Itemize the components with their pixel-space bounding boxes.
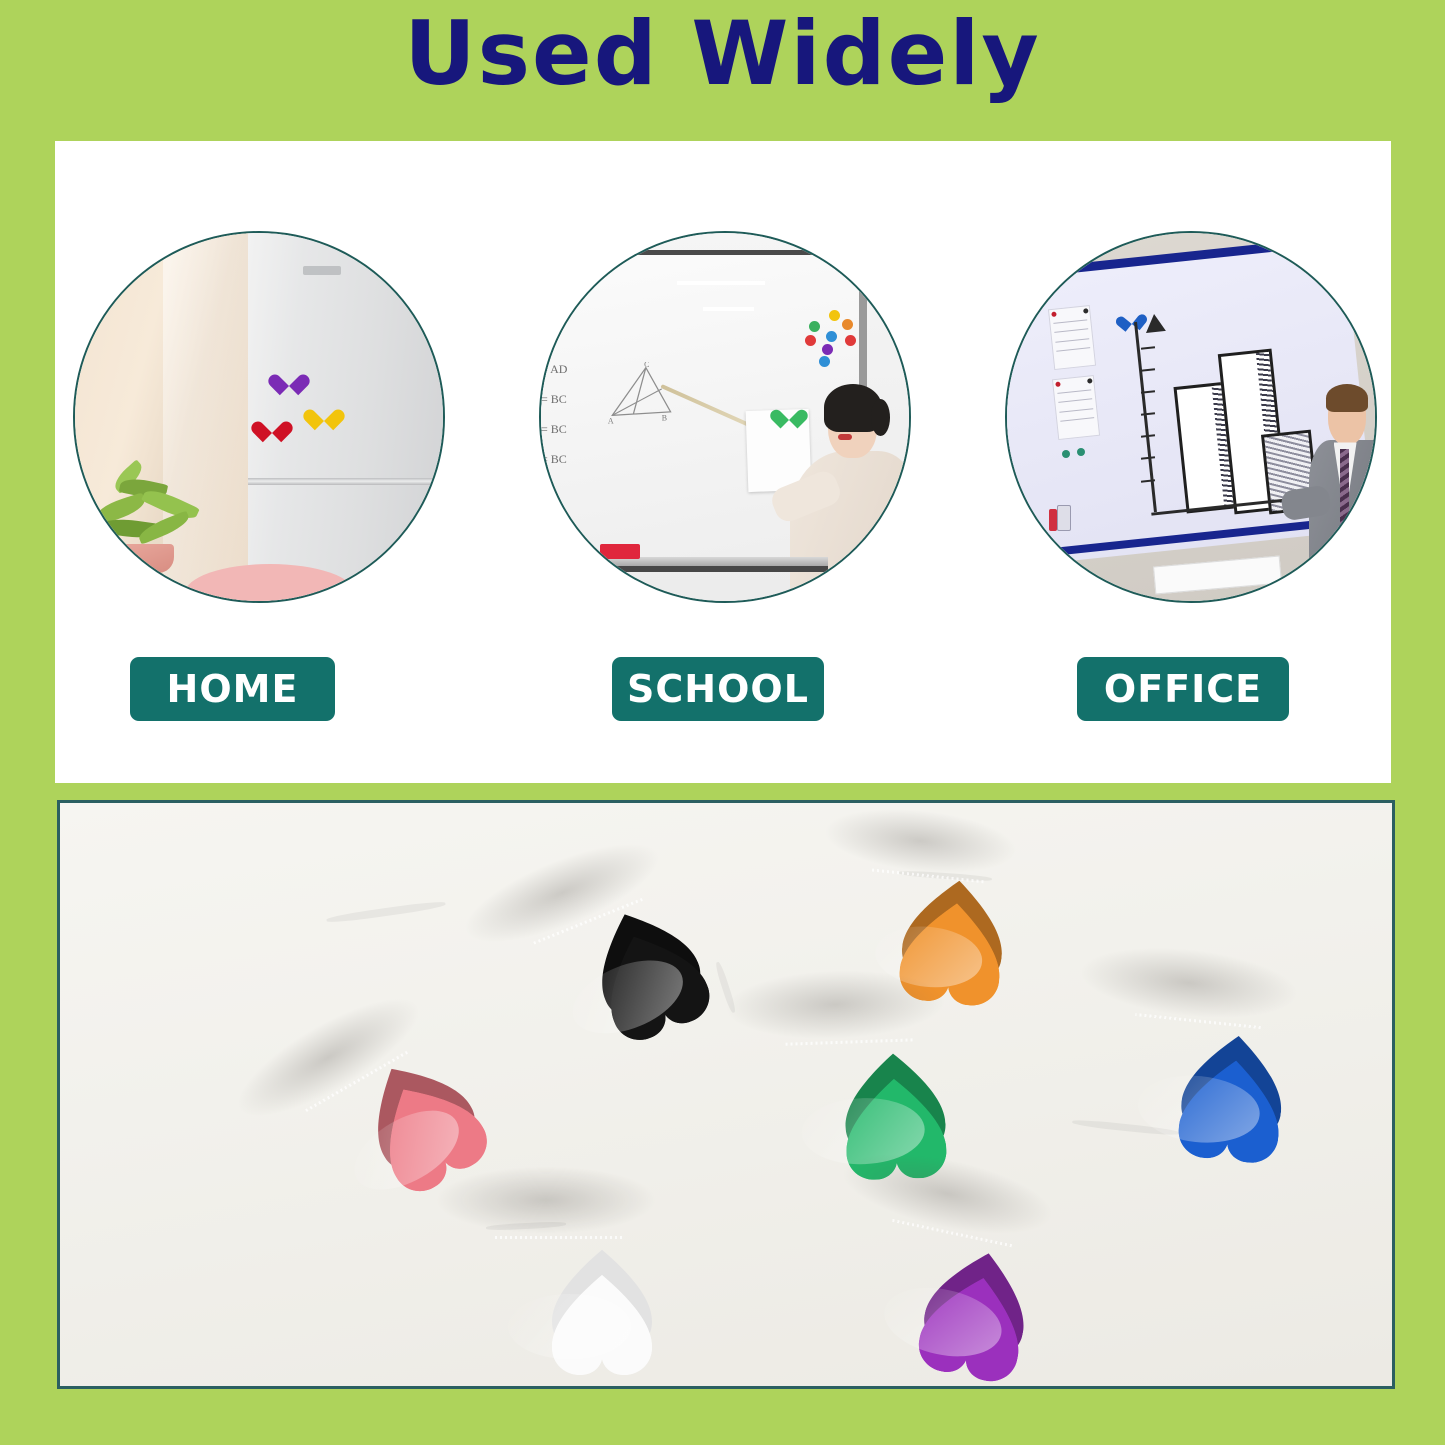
magnet-dot xyxy=(822,344,833,355)
magnet-dot xyxy=(829,310,840,321)
scene-home xyxy=(75,233,443,601)
badge-school: SCHOOL xyxy=(612,657,824,721)
document-text-line xyxy=(1060,417,1094,422)
magnet-dot xyxy=(826,331,837,342)
pinned-document xyxy=(1052,374,1101,439)
scene-school: = AD = BC = BC = BC A B C xyxy=(541,233,909,601)
plant-pot xyxy=(120,544,174,573)
page-title: Used Widely xyxy=(0,8,1445,100)
badge-office: OFFICE xyxy=(1077,657,1289,721)
green-marker xyxy=(591,555,602,563)
document-text-line xyxy=(1058,398,1092,403)
drop-shadow xyxy=(817,800,1023,883)
document-text-line xyxy=(1056,338,1090,343)
document-text-line xyxy=(1059,408,1093,413)
document-text-line xyxy=(1057,347,1091,352)
equation-line: = BC xyxy=(541,444,607,474)
magnet-edge-highlight xyxy=(495,1236,622,1239)
whiteboard-mark xyxy=(677,281,765,285)
purple-heart-magnet xyxy=(810,1154,1052,1387)
use-case-image-school: = AD = BC = BC = BC A B C xyxy=(539,231,911,603)
businessman-figure xyxy=(1309,384,1377,601)
black-heart-magnet xyxy=(462,838,717,1085)
product-photo xyxy=(57,800,1395,1389)
whiteboard-mark xyxy=(703,307,755,311)
equation-line: = BC xyxy=(541,384,607,414)
blue-heart-magnet-icon xyxy=(1120,306,1142,326)
refrigerator-logo xyxy=(303,266,341,275)
use-cases-panel: = AD = BC = BC = BC A B C xyxy=(55,141,1391,783)
colorful-magnet-cluster xyxy=(802,310,865,362)
red-heart-magnet-icon xyxy=(259,411,285,435)
teacher-hair-bun xyxy=(871,399,890,436)
teacher-lips xyxy=(838,434,851,441)
svg-text:A: A xyxy=(608,416,614,424)
whiteboard-top-frame xyxy=(556,250,865,255)
white-heart-magnet xyxy=(440,1181,652,1375)
document-text-line xyxy=(1055,328,1089,333)
pinned-document xyxy=(1048,305,1097,370)
note-card xyxy=(1057,505,1071,531)
pin-dot xyxy=(1055,381,1060,386)
use-case-circles: = AD = BC = BC = BC A B C xyxy=(55,141,1391,581)
magnet-dot xyxy=(845,335,856,346)
magnet-dot xyxy=(805,335,816,346)
whiteboard-tray-shadow xyxy=(556,566,828,572)
scene-office xyxy=(1007,233,1375,601)
potted-plant xyxy=(90,465,208,575)
drop-shadow xyxy=(831,1137,1063,1252)
drop-shadow xyxy=(1073,936,1306,1028)
use-case-image-home xyxy=(73,231,445,603)
pin-dot xyxy=(1051,311,1056,316)
drop-shadow xyxy=(720,965,951,1043)
document-text-line xyxy=(1057,389,1091,394)
magnet-dot xyxy=(809,321,820,332)
svg-text:C: C xyxy=(644,362,649,369)
use-case-image-office xyxy=(1005,231,1377,603)
whiteboard-equations: = AD = BC = BC = BC xyxy=(541,354,607,474)
teacher-body xyxy=(790,451,911,601)
magnet-dot xyxy=(819,356,830,367)
pin-dot xyxy=(1087,377,1092,382)
purple-heart-magnet-icon xyxy=(276,364,302,388)
infographic-page: Used Widely xyxy=(0,0,1445,1445)
chart-axis-arrow xyxy=(1144,313,1166,333)
equation-line: = AD xyxy=(541,354,607,384)
equation-line: = BC xyxy=(541,414,607,444)
pin-dot xyxy=(1083,308,1088,313)
document-text-line xyxy=(1054,319,1088,324)
badge-home: HOME xyxy=(130,657,335,721)
drop-shadow xyxy=(432,1166,661,1236)
blue-heart-magnet xyxy=(1067,953,1296,1166)
surface-mark xyxy=(326,900,446,925)
red-eraser xyxy=(600,544,640,559)
refrigerator-door-seam xyxy=(248,478,443,485)
yellow-heart-magnet-icon xyxy=(311,399,337,423)
svg-text:B: B xyxy=(662,413,667,422)
businessman-tie xyxy=(1340,449,1349,523)
businessman-hair xyxy=(1326,384,1368,412)
magnet-dot xyxy=(842,319,853,330)
